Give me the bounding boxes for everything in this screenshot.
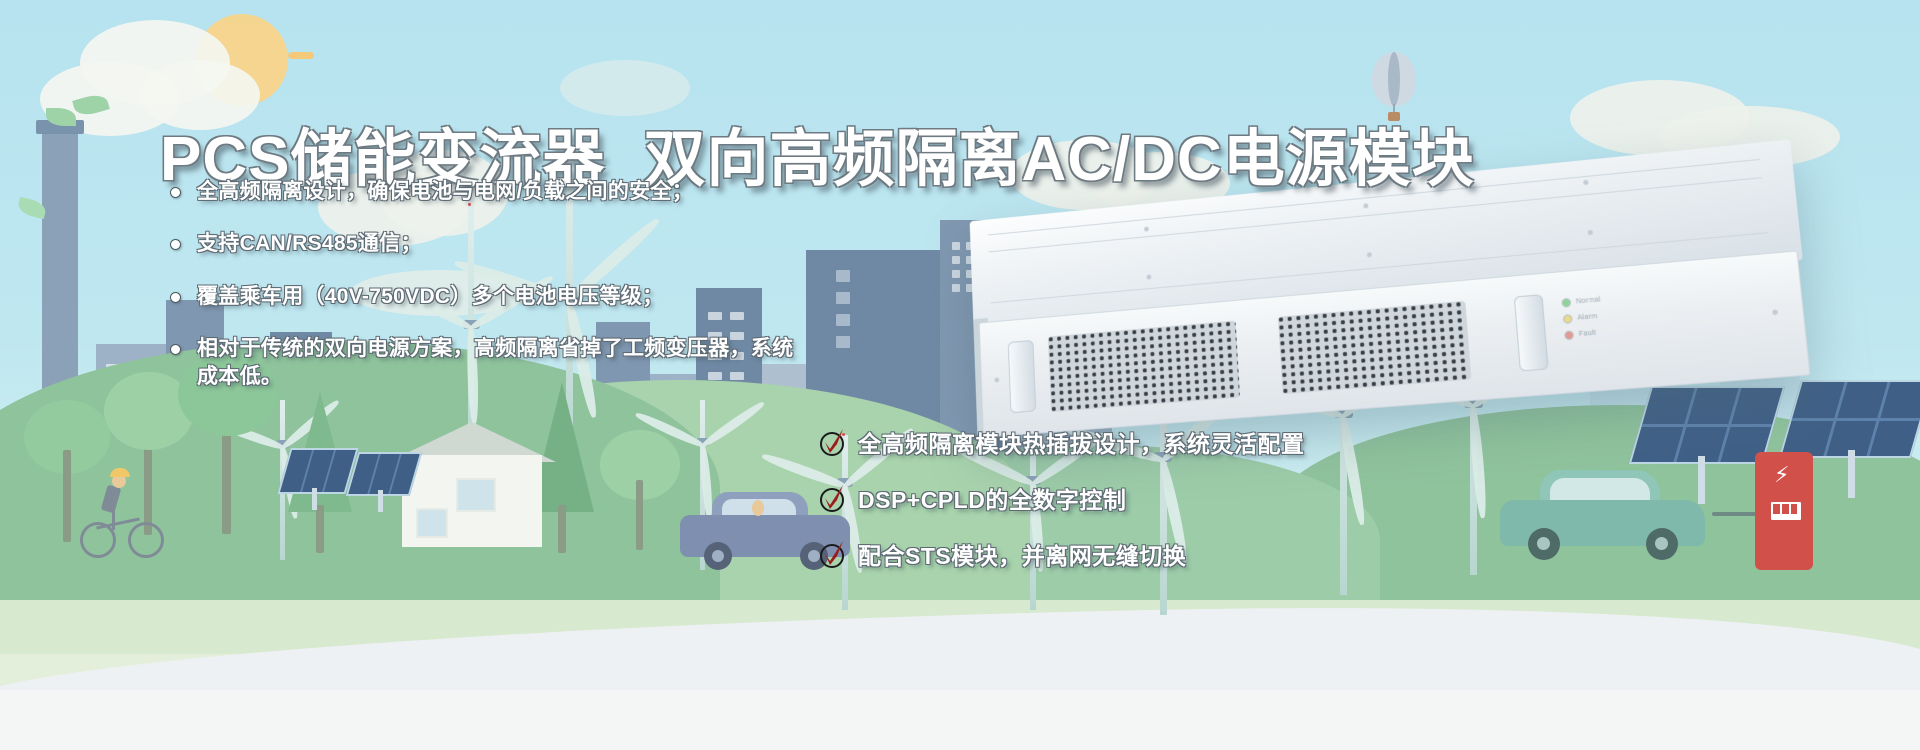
sun-ray-icon bbox=[288, 52, 314, 59]
bicycle-wheel bbox=[128, 522, 164, 558]
panel-leg bbox=[312, 488, 317, 510]
cyclist-helmet bbox=[110, 468, 130, 477]
led-indicator bbox=[1561, 298, 1571, 308]
status-led-alarm: Alarm bbox=[1563, 312, 1598, 324]
list-item: DSP+CPLD的全数字控制 bbox=[820, 481, 1420, 515]
list-item: 相对于传统的双向电源方案，高频隔离省掉了工频变压器，系统成本低。 bbox=[170, 335, 810, 392]
house-window bbox=[416, 508, 448, 538]
list-item: 全高频隔离模块热插拔设计，系统灵活配置 bbox=[820, 425, 1420, 459]
status-led-normal: Normal bbox=[1561, 295, 1601, 307]
solar-panel bbox=[346, 452, 423, 496]
ev-wheel-hub bbox=[1655, 537, 1668, 550]
check-text: 全高频隔离模块热插拔设计，系统灵活配置 bbox=[858, 425, 1305, 459]
car-driver bbox=[752, 500, 764, 516]
check-circle-icon bbox=[820, 541, 846, 567]
led-label-fault: Fault bbox=[1579, 330, 1597, 339]
bullet-dot-icon bbox=[170, 187, 181, 198]
battery-icon bbox=[1769, 500, 1803, 522]
check-text: DSP+CPLD的全数字控制 bbox=[858, 481, 1126, 515]
tree-trunk bbox=[558, 505, 566, 553]
feature-bullet-list: 全高频隔离设计，确保电池与电网/负载之间的安全； 支持CAN/RS485通信； … bbox=[170, 178, 810, 416]
house-window bbox=[456, 478, 496, 512]
device-handle-left bbox=[1008, 340, 1037, 413]
led-indicator bbox=[1563, 314, 1573, 324]
lightning-bolt-icon: ⚡ bbox=[1774, 462, 1789, 488]
bullet-text: 覆盖乘车用（40V-750VDC）多个电池电压等级； bbox=[197, 283, 663, 311]
bullet-dot-icon bbox=[170, 292, 181, 303]
road-shape bbox=[0, 690, 1920, 750]
check-circle-icon bbox=[820, 485, 846, 511]
list-item: 全高频隔离设计，确保电池与电网/负载之间的安全； bbox=[170, 178, 810, 206]
bullet-text: 全高频隔离设计，确保电池与电网/负载之间的安全； bbox=[197, 178, 693, 206]
tree-trunk bbox=[63, 450, 71, 542]
balloon-stripe bbox=[1388, 52, 1400, 106]
check-bullet-list: 全高频隔离模块热插拔设计，系统灵活配置 DSP+CPLD的全数字控制 配合STS… bbox=[820, 425, 1420, 593]
device-handle-right bbox=[1514, 294, 1549, 371]
ev-wheel-hub bbox=[1537, 537, 1550, 550]
tree-trunk bbox=[316, 505, 324, 553]
led-label-alarm: Alarm bbox=[1577, 313, 1598, 322]
bullet-dot-icon bbox=[170, 239, 181, 250]
device-vent-grille-right bbox=[1278, 301, 1471, 394]
bullet-dot-icon bbox=[170, 344, 181, 355]
device-vent-grille-left bbox=[1048, 321, 1240, 413]
led-label-normal: Normal bbox=[1576, 296, 1601, 305]
banner-stage: ⚡ Normal bbox=[0, 0, 1920, 750]
tree-trunk bbox=[636, 480, 643, 550]
panel-leg bbox=[1848, 450, 1855, 498]
check-text: 配合STS模块，并离网无缝切换 bbox=[858, 537, 1186, 571]
charging-cable bbox=[1712, 512, 1760, 516]
car-wheel-hub bbox=[808, 550, 820, 562]
list-item: 覆盖乘车用（40V-750VDC）多个电池电压等级； bbox=[170, 283, 810, 311]
bullet-text: 相对于传统的双向电源方案，高频隔离省掉了工频变压器，系统成本低。 bbox=[197, 335, 810, 392]
list-item: 配合STS模块，并离网无缝切换 bbox=[820, 537, 1420, 571]
car-wheel-hub bbox=[712, 550, 724, 562]
solar-panel bbox=[1779, 380, 1920, 458]
check-circle-icon bbox=[820, 429, 846, 455]
list-item: 支持CAN/RS485通信； bbox=[170, 230, 810, 258]
status-led-fault: Fault bbox=[1564, 329, 1596, 341]
led-indicator bbox=[1564, 330, 1574, 340]
panel-leg bbox=[1698, 456, 1705, 504]
panel-leg bbox=[378, 490, 383, 512]
solar-panel bbox=[277, 448, 358, 494]
bullet-text: 支持CAN/RS485通信； bbox=[197, 230, 422, 258]
